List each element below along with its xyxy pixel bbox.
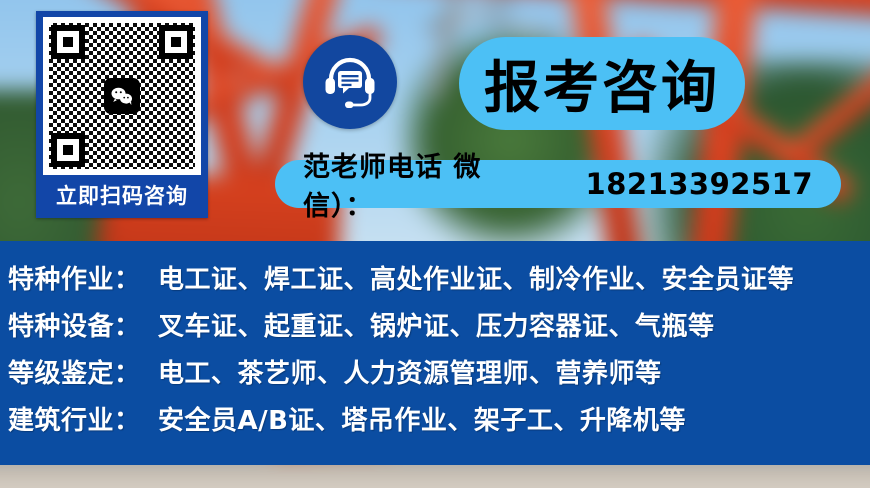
headset-chat-icon[interactable]: [303, 35, 397, 129]
banner-canvas: 立即扫码咨询 报考咨询 范老师电话 微信）： 18213392517: [0, 0, 870, 488]
qr-finder-bottom-left: [51, 133, 85, 167]
title-pill-label: 报考咨询: [484, 43, 720, 124]
info-panel: 特种作业： 电工证、焊工证、高处作业证、制冷作业、安全员证等 特种设备： 叉车证…: [0, 241, 870, 465]
qr-code-icon[interactable]: [49, 23, 195, 169]
info-row-value: 叉车证、起重证、锅炉证、压力容器证、气瓶等: [158, 306, 715, 343]
info-row-value: 电工、茶艺师、人力资源管理师、营养师等: [158, 353, 662, 390]
qr-finder-top-left: [51, 25, 85, 59]
qr-finder-top-right: [159, 25, 193, 59]
phone-pill-label: 范老师电话 微信）：: [303, 145, 550, 223]
qr-code-card[interactable]: 立即扫码咨询: [36, 11, 208, 218]
info-row-special-operations: 特种作业： 电工证、焊工证、高处作业证、制冷作业、安全员证等: [0, 259, 870, 306]
info-row-construction-industry: 建筑行业： 安全员A/B证、塔吊作业、架子工、升降机等: [0, 400, 870, 447]
info-row-label: 特种作业：: [8, 259, 158, 296]
info-row-value: 安全员A/B证、塔吊作业、架子工、升降机等: [158, 400, 686, 437]
phone-pill[interactable]: 范老师电话 微信）： 18213392517: [275, 160, 841, 208]
phone-number[interactable]: 18213392517: [586, 167, 813, 201]
info-row-label: 特种设备：: [8, 306, 158, 343]
title-pill[interactable]: 报考咨询: [459, 37, 745, 130]
info-row-label: 等级鉴定：: [8, 353, 158, 390]
qr-card-caption: 立即扫码咨询: [39, 175, 205, 215]
qr-code-area[interactable]: [43, 17, 201, 175]
info-row-value: 电工证、焊工证、高处作业证、制冷作业、安全员证等: [158, 259, 794, 296]
info-row-label: 建筑行业：: [8, 400, 158, 437]
wechat-icon: [104, 78, 140, 114]
info-row-grade-appraisal: 等级鉴定： 电工、茶艺师、人力资源管理师、营养师等: [0, 353, 870, 400]
info-row-special-equipment: 特种设备： 叉车证、起重证、锅炉证、压力容器证、气瓶等: [0, 306, 870, 353]
